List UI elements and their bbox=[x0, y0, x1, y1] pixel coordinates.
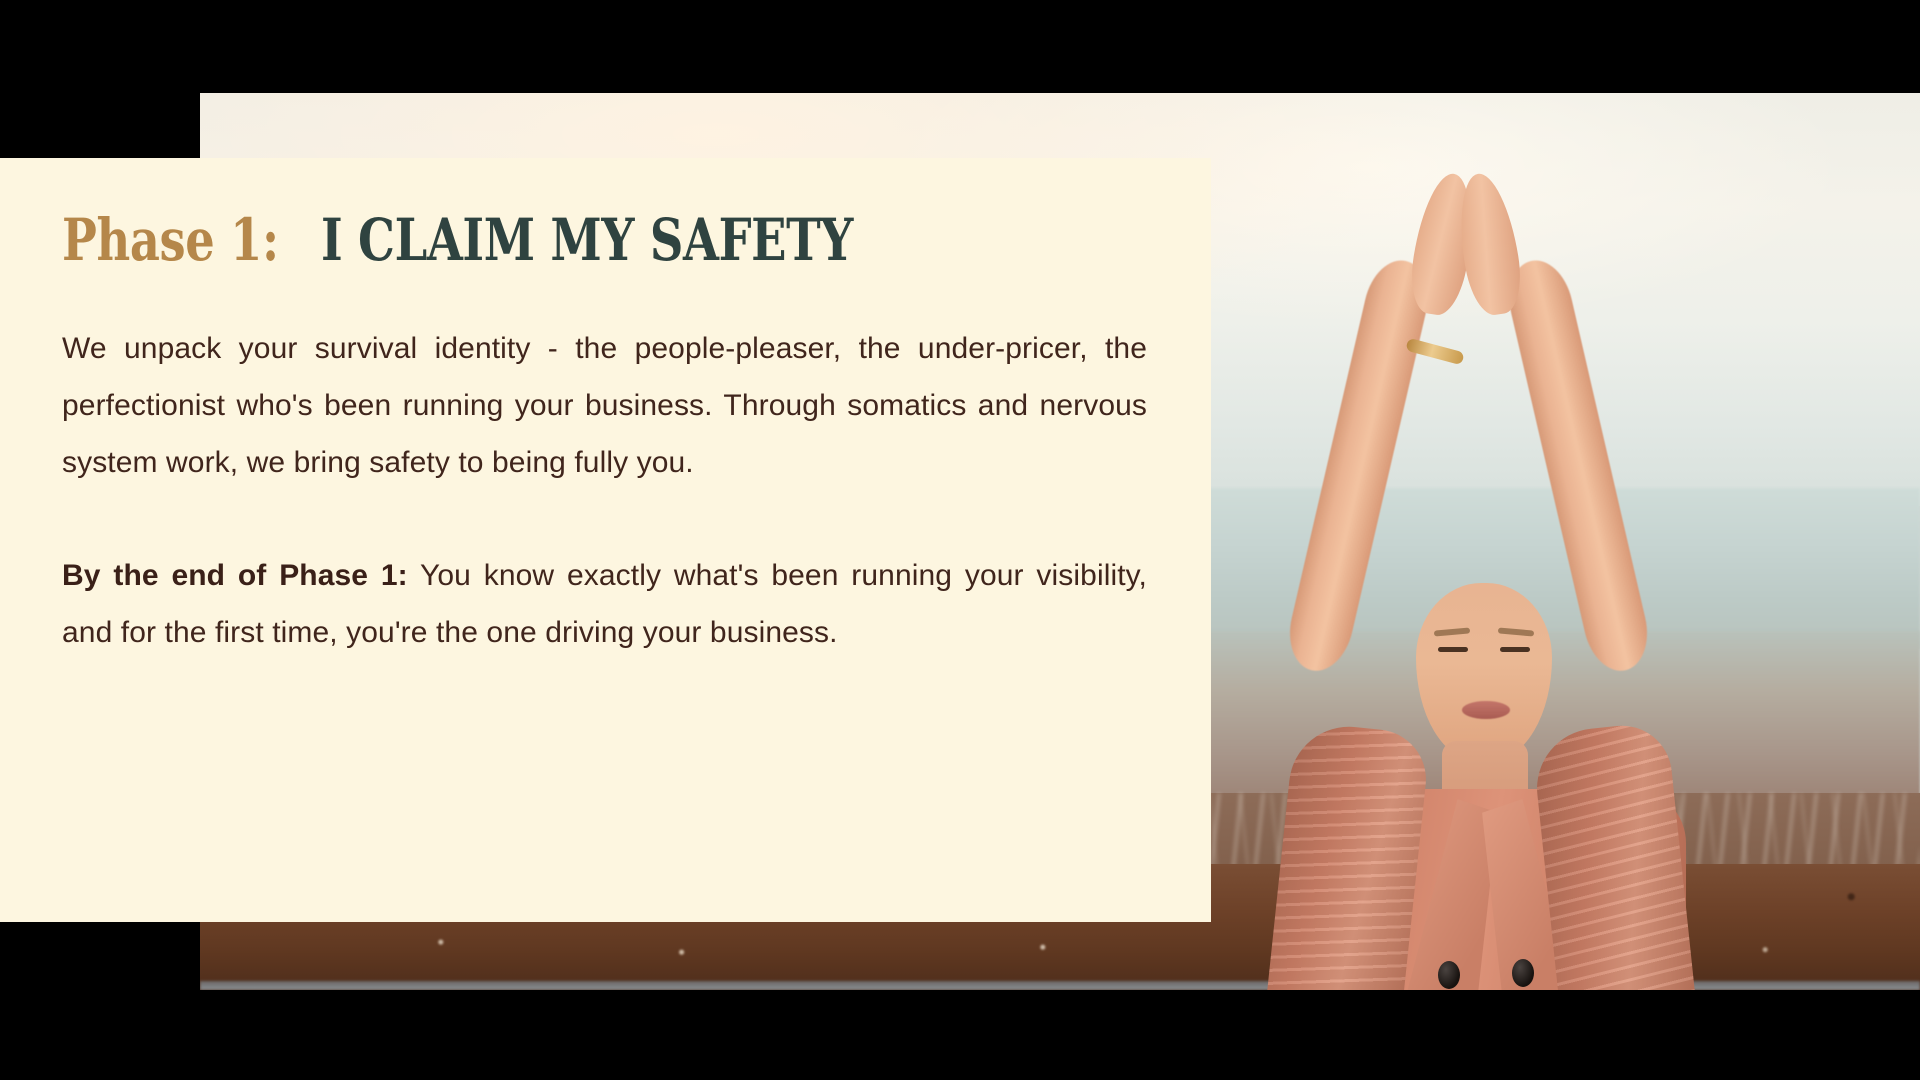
paragraph-two: By the end of Phase 1: You know exactly … bbox=[62, 547, 1147, 661]
phase-label: Phase 1: bbox=[62, 206, 279, 274]
content-card-inner: Phase 1: I CLAIM MY SAFETY We unpack you… bbox=[62, 206, 1147, 661]
paragraph-two-lead: By the end of Phase 1: bbox=[62, 559, 408, 592]
figure-right-eye bbox=[1500, 647, 1530, 652]
phase-title: I CLAIM MY SAFETY bbox=[321, 206, 853, 274]
figure-right-sleeve bbox=[1531, 721, 1701, 990]
figure-left-arm bbox=[1281, 254, 1436, 677]
figure-left-eye bbox=[1438, 647, 1468, 652]
slide-canvas: Phase 1: I CLAIM MY SAFETY We unpack you… bbox=[0, 0, 1920, 1080]
figure-lips bbox=[1462, 701, 1510, 719]
page-title: Phase 1: I CLAIM MY SAFETY bbox=[62, 206, 1147, 274]
figure-left-sleeve bbox=[1261, 721, 1431, 990]
body-copy: We unpack your survival identity - the p… bbox=[62, 320, 1147, 661]
paragraph-one: We unpack your survival identity - the p… bbox=[62, 320, 1147, 491]
figure-blazer-button bbox=[1512, 959, 1534, 987]
photo-figure-woman bbox=[1200, 153, 1760, 990]
figure-blazer-button bbox=[1438, 961, 1460, 989]
figure-head bbox=[1416, 583, 1552, 761]
content-card: Phase 1: I CLAIM MY SAFETY We unpack you… bbox=[0, 158, 1211, 922]
